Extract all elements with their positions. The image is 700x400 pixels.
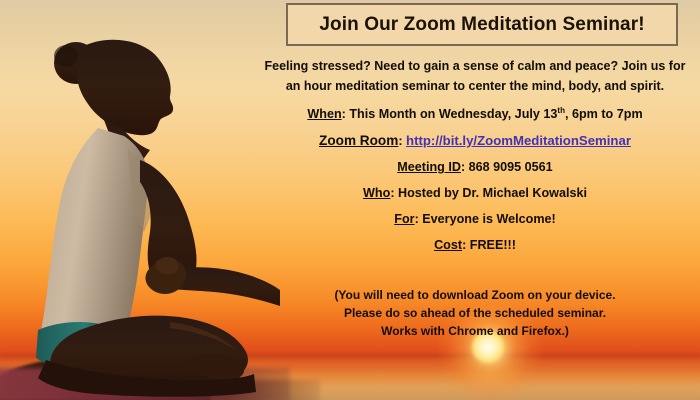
intro-line-2: an hour meditation seminar to center the… bbox=[286, 79, 664, 93]
footer-line-3: Works with Chrome and Firefox.) bbox=[250, 322, 700, 340]
intro-line-1: Feeling stressed? Need to gain a sense o… bbox=[265, 59, 686, 73]
zoom-room-separator: : bbox=[398, 134, 406, 148]
when-label: When bbox=[307, 107, 341, 121]
who-value: : Hosted by Dr. Michael Kowalski bbox=[390, 186, 587, 200]
meeting-id-value: : 868 9095 0561 bbox=[461, 160, 553, 174]
footer-line-2: Please do so ahead of the scheduled semi… bbox=[250, 304, 700, 322]
when-ordinal-suffix: th bbox=[557, 106, 565, 115]
who-label: Who bbox=[363, 186, 390, 200]
zoom-room-link[interactable]: http://bit.ly/ZoomMeditationSeminar bbox=[406, 133, 631, 148]
meditation-seminar-poster: Join Our Zoom Meditation Seminar! Feelin… bbox=[0, 0, 700, 400]
for-value: : Everyone is Welcome! bbox=[415, 212, 556, 226]
zoom-room-line: Zoom Room: http://bit.ly/ZoomMeditationS… bbox=[250, 133, 700, 148]
poster-content: Join Our Zoom Meditation Seminar! Feelin… bbox=[250, 0, 700, 400]
details-block: Feeling stressed? Need to gain a sense o… bbox=[250, 56, 700, 264]
meeting-id-line: Meeting ID: 868 9095 0561 bbox=[250, 160, 700, 174]
when-line: When: This Month on Wednesday, July 13th… bbox=[250, 106, 700, 121]
intro-paragraph: Feeling stressed? Need to gain a sense o… bbox=[258, 56, 692, 96]
meeting-id-label: Meeting ID bbox=[397, 160, 461, 174]
footer-line-1: (You will need to download Zoom on your … bbox=[250, 286, 700, 304]
when-value-after: , 6pm to 7pm bbox=[565, 107, 643, 121]
footer-note: (You will need to download Zoom on your … bbox=[250, 286, 700, 340]
for-label: For bbox=[394, 212, 414, 226]
cost-label: Cost bbox=[434, 238, 462, 252]
zoom-room-label: Zoom Room bbox=[319, 133, 398, 148]
cost-line: Cost: FREE!!! bbox=[250, 238, 700, 252]
when-value-before: : This Month on Wednesday, July 13 bbox=[342, 107, 558, 121]
for-line: For: Everyone is Welcome! bbox=[250, 212, 700, 226]
cost-value: : FREE!!! bbox=[462, 238, 516, 252]
meditating-woman-silhouette bbox=[0, 0, 280, 400]
title-banner: Join Our Zoom Meditation Seminar! bbox=[286, 3, 678, 46]
who-line: Who: Hosted by Dr. Michael Kowalski bbox=[250, 186, 700, 200]
page-title: Join Our Zoom Meditation Seminar! bbox=[319, 14, 644, 36]
